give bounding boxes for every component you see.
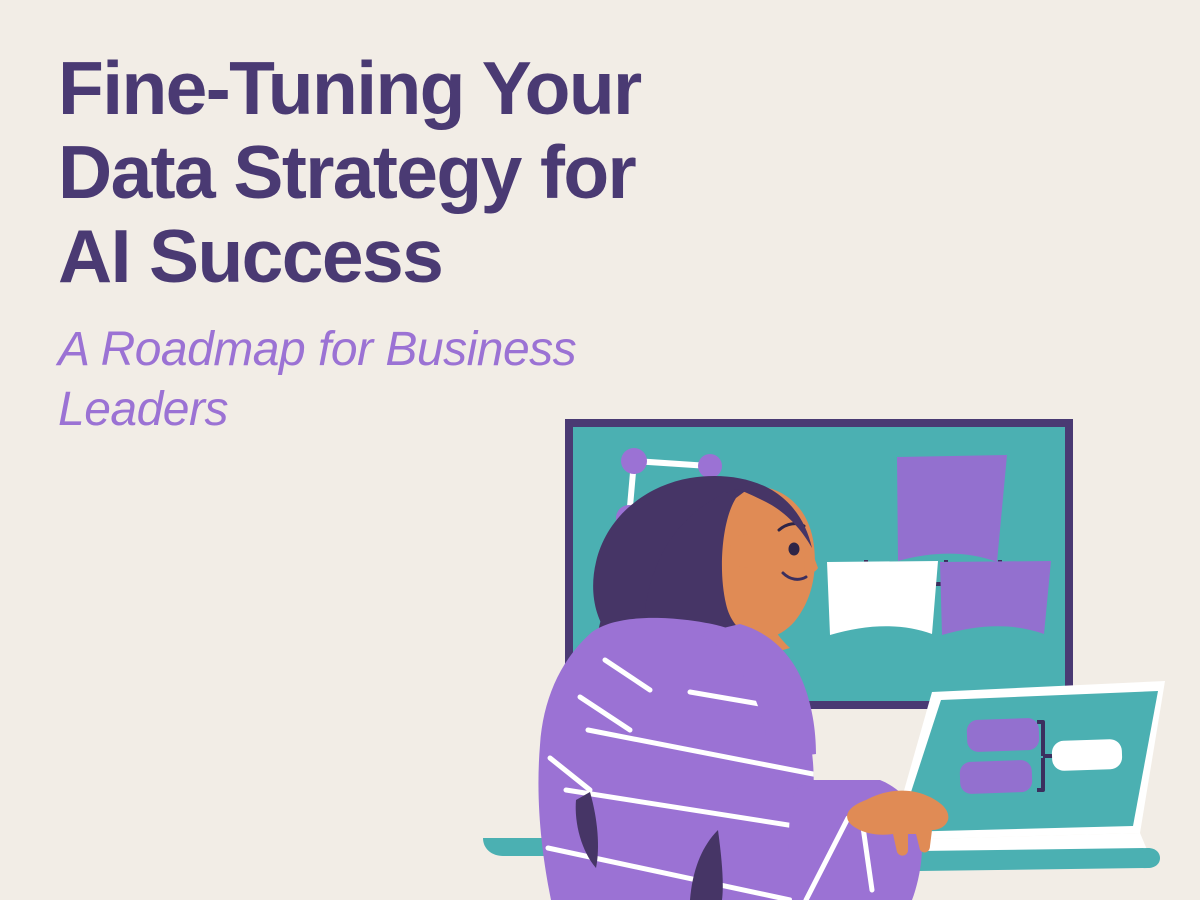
- screen-block-purple-bottom: [959, 760, 1032, 794]
- slide-canvas: Fine-Tuning Your Data Strategy for AI Su…: [0, 0, 1200, 900]
- text-block: Fine-Tuning Your Data Strategy for AI Su…: [58, 46, 918, 440]
- screen-block-purple-top: [966, 718, 1039, 752]
- sticky-note-bottom-right: [940, 561, 1051, 635]
- sticky-note-top: [897, 455, 1007, 562]
- sticky-note-bottom-left: [827, 561, 938, 635]
- eye: [789, 543, 800, 556]
- network-node-1-icon: [621, 448, 647, 474]
- page-subtitle: A Roadmap for Business Leaders: [58, 320, 918, 440]
- page-title: Fine-Tuning Your Data Strategy for AI Su…: [58, 46, 918, 298]
- screen-block-white: [1051, 739, 1122, 771]
- network-node-2-icon: [698, 454, 722, 478]
